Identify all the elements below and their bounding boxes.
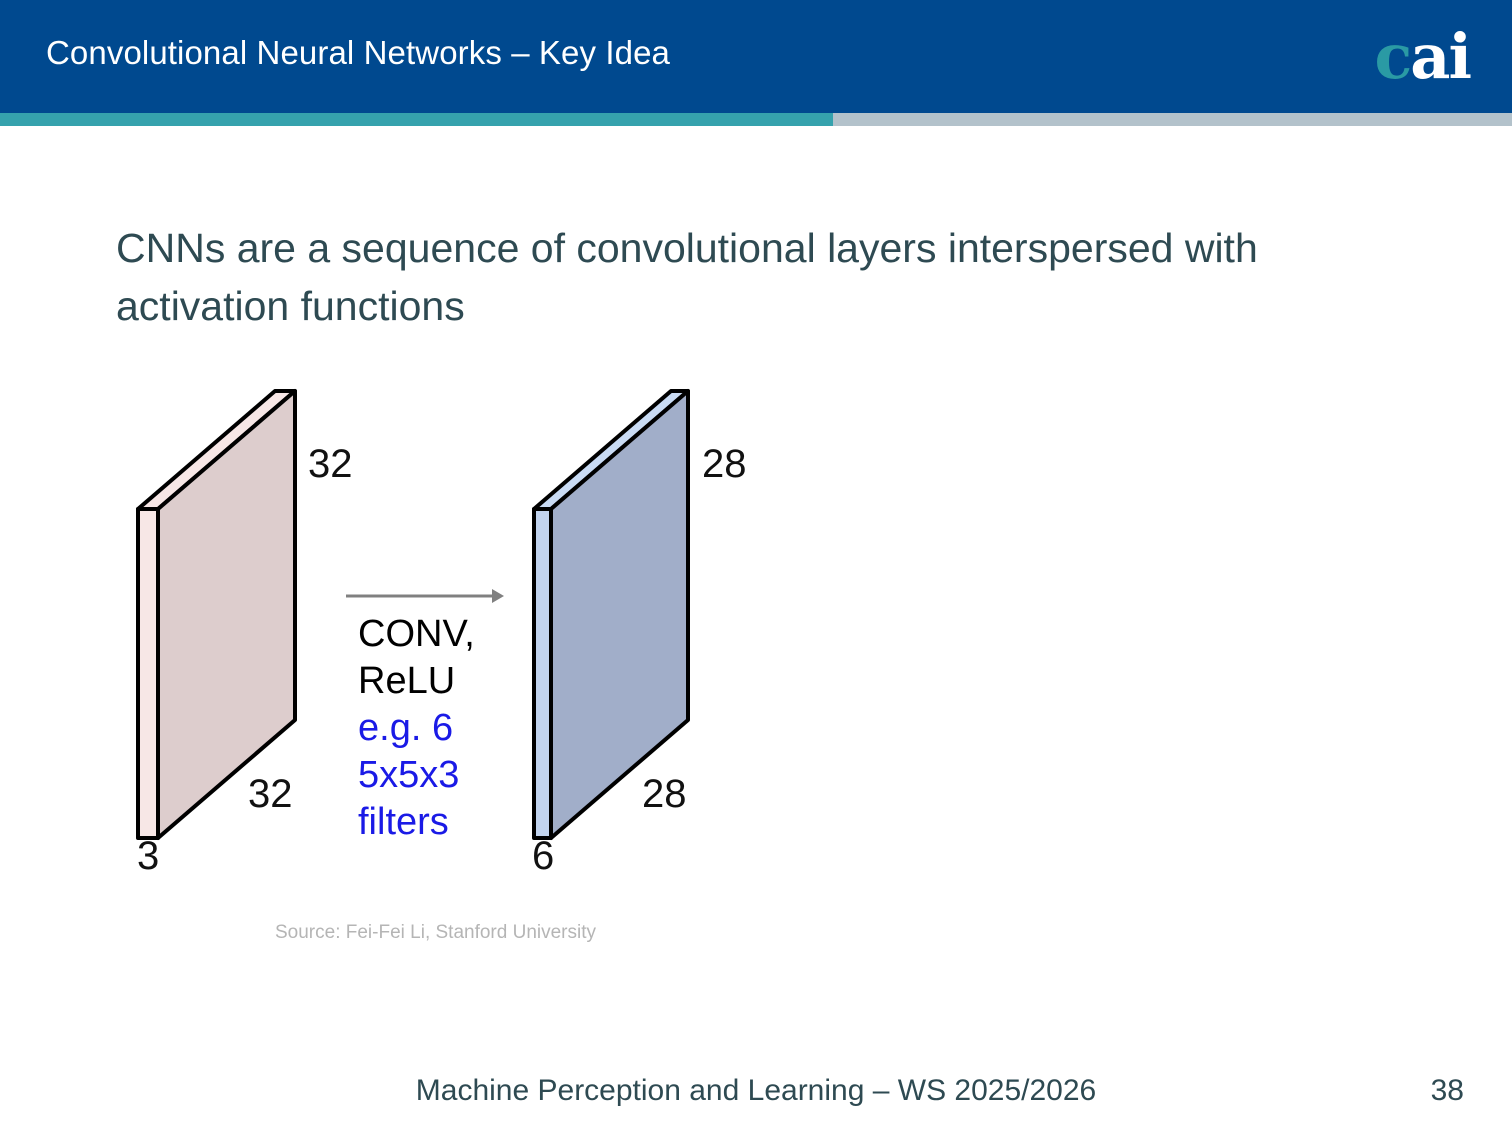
output-label-top: 28: [702, 442, 747, 486]
page-title: Convolutional Neural Networks – Key Idea: [46, 34, 670, 72]
op-label-5x5x3: 5x5x3: [358, 754, 459, 796]
input-volume-side-face: [138, 509, 158, 838]
logo-letters-ai: ai: [1410, 24, 1470, 90]
input-volume-front-face: [158, 391, 295, 838]
output-label-depth: 6: [532, 834, 554, 878]
slide-body-text: CNNs are a sequence of convolutional lay…: [116, 219, 1406, 335]
output-volume-front-face: [551, 391, 688, 838]
source-attribution: Source: Fei-Fei Li, Stanford University: [275, 922, 596, 944]
footer-page-number: 38: [1431, 1074, 1464, 1108]
op-label-filters: filters: [358, 801, 449, 843]
cnn-volume-diagram: 32 32 3 CONV, ReLU e.g. 6 5x5x3 filters …: [110, 380, 810, 890]
output-label-bottom: 28: [642, 772, 687, 816]
input-label-depth: 3: [137, 834, 159, 878]
op-label-conv: CONV,: [358, 613, 475, 655]
footer-course-title: Machine Perception and Learning – WS 202…: [0, 1074, 1512, 1108]
conv-arrow: [346, 589, 504, 603]
op-label-relu: ReLU: [358, 660, 455, 702]
input-label-bottom: 32: [248, 772, 293, 816]
divider-teal-segment: [0, 113, 833, 126]
input-label-top: 32: [308, 442, 353, 486]
input-volume-shape: [138, 391, 295, 838]
logo-letter-c: c: [1375, 24, 1411, 90]
header-divider: [0, 113, 1512, 126]
output-volume-shape: [534, 391, 688, 838]
op-label-eg6: e.g. 6: [358, 707, 453, 749]
cai-logo: cai: [1375, 24, 1471, 90]
divider-gray-segment: [833, 113, 1512, 126]
slide-header: Convolutional Neural Networks – Key Idea…: [0, 0, 1512, 113]
output-volume-side-face: [534, 509, 551, 838]
